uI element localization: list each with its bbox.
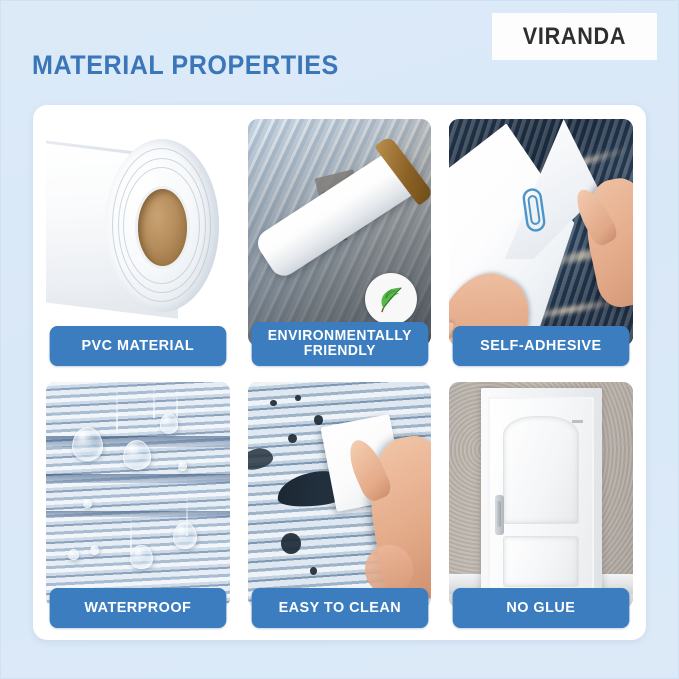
water-droplet: [173, 522, 197, 549]
feature-image-self-adhesive: [449, 119, 633, 346]
feature-image-easy-to-clean: [248, 382, 432, 609]
door-panel-bottom: [503, 536, 579, 587]
water-trail: [176, 386, 178, 418]
feature-cell-environmentally-friendly: ENVIRONMENTALLY FRIENDLY: [248, 119, 432, 366]
infographic-page: MATERIAL PROPERTIES VIRANDA PVC MATERIA: [0, 0, 679, 679]
header: MATERIAL PROPERTIES VIRANDA: [0, 0, 679, 104]
feature-image-no-glue: [449, 382, 633, 609]
feature-label-text: NO GLUE: [507, 600, 576, 615]
knuckle: [365, 545, 413, 595]
water-trail: [130, 513, 132, 554]
feature-label-self-adhesive: SELF-ADHESIVE: [453, 326, 629, 366]
stain-dot: [288, 434, 297, 443]
feature-label-easy-to-clean: EASY TO CLEAN: [251, 588, 427, 628]
door-panel-top: [503, 416, 579, 524]
feature-label-text-line2: FRIENDLY: [267, 344, 411, 359]
water-trail: [153, 382, 155, 418]
feature-image-pvc-material: [46, 119, 230, 346]
feature-label-environmentally-friendly: ENVIRONMENTALLY FRIENDLY: [251, 322, 427, 366]
water-droplet: [90, 545, 99, 555]
stain-dot: [295, 395, 301, 401]
door-frame: [481, 388, 602, 596]
feature-image-waterproof: [46, 382, 230, 609]
door-handle: [497, 501, 501, 527]
feature-image-environmentally-friendly: [248, 119, 432, 346]
door: [488, 397, 595, 597]
grain-band: [46, 511, 230, 518]
feature-cell-easy-to-clean: EASY TO CLEAN: [248, 382, 432, 629]
water-droplet: [68, 549, 79, 560]
brand-name: VIRANDA: [523, 23, 626, 51]
feature-cell-self-adhesive: SELF-ADHESIVE: [449, 119, 633, 366]
eco-badge: [365, 273, 417, 325]
feature-label-text: SELF-ADHESIVE: [480, 338, 601, 353]
feature-label-pvc-material: PVC MATERIAL: [50, 326, 226, 366]
grain-band: [46, 474, 230, 483]
feature-label-no-glue: NO GLUE: [453, 588, 629, 628]
brand-logo-box: VIRANDA: [492, 13, 657, 60]
page-title: MATERIAL PROPERTIES: [32, 50, 339, 81]
water-droplet: [83, 499, 92, 508]
feature-label-text: PVC MATERIAL: [81, 338, 194, 353]
water-droplet: [130, 545, 152, 570]
stain-dot: [281, 533, 301, 553]
water-droplet: [160, 413, 178, 433]
wood-grain-texture: [46, 382, 230, 609]
water-droplet: [178, 461, 187, 471]
feature-label-text: WATERPROOF: [84, 600, 191, 615]
door-hinge: [572, 420, 583, 423]
stain-dot: [314, 415, 323, 424]
feature-cell-pvc-material: PVC MATERIAL: [46, 119, 230, 366]
feature-cell-waterproof: WATERPROOF: [46, 382, 230, 629]
water-trail: [116, 382, 118, 432]
feature-cell-no-glue: NO GLUE: [449, 382, 633, 629]
feature-label-text: EASY TO CLEAN: [278, 600, 401, 615]
feature-label-waterproof: WATERPROOF: [50, 588, 226, 628]
feature-label-text-line1: ENVIRONMENTALLY: [267, 329, 411, 344]
feature-card: PVC MATERIAL: [33, 105, 646, 640]
water-droplet: [123, 440, 151, 469]
water-droplet: [72, 427, 103, 461]
feature-grid: PVC MATERIAL: [46, 119, 633, 628]
leaf-icon: [376, 284, 406, 314]
